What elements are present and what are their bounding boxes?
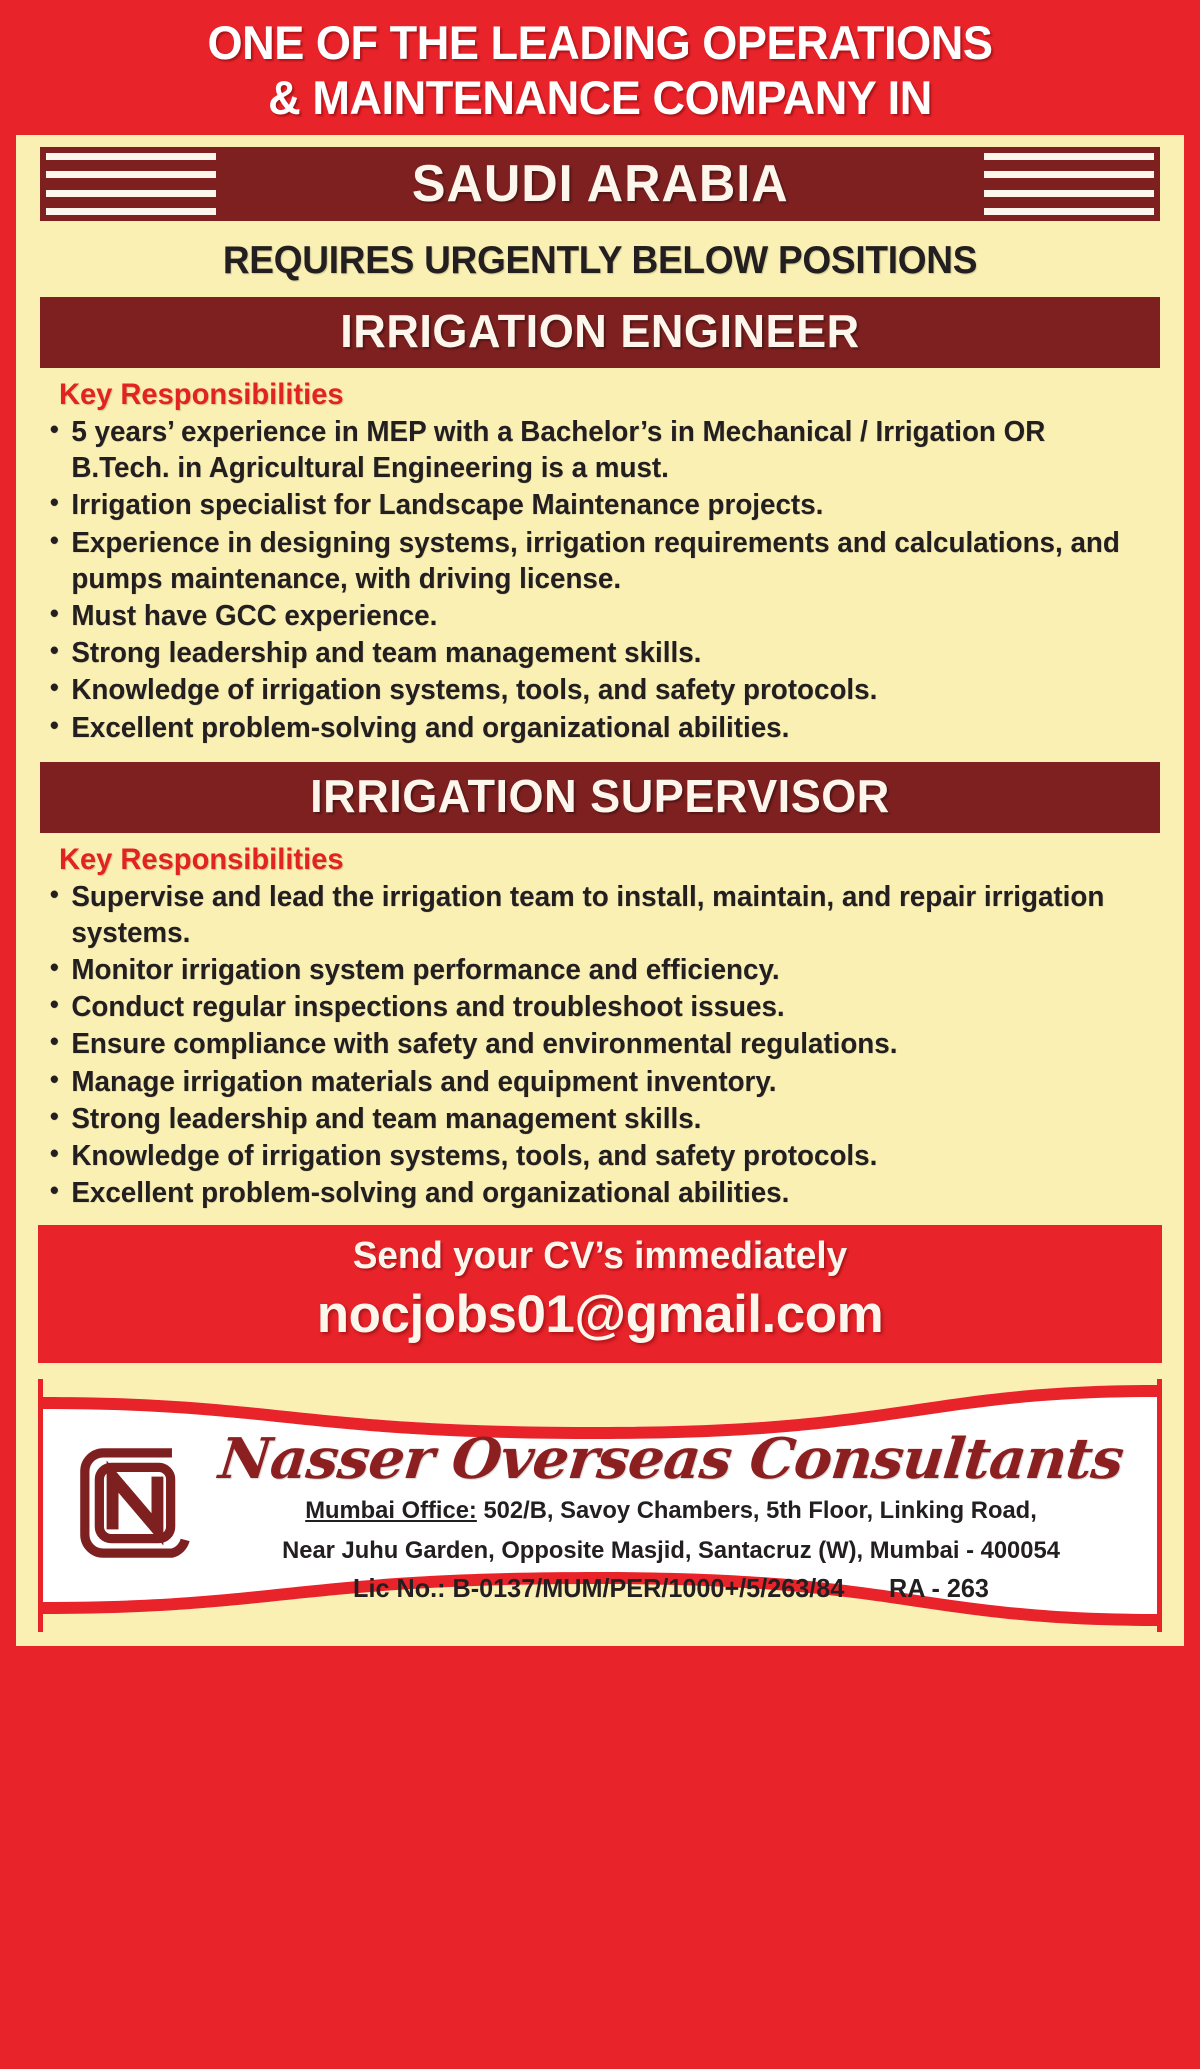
list-item: Conduct regular inspections and troubles… xyxy=(46,989,1144,1025)
address-line-1: Mumbai Office: 502/B, Savoy Chambers, 5t… xyxy=(223,1495,1119,1527)
company-logo xyxy=(61,1431,209,1569)
job-title-supervisor: IRRIGATION SUPERVISOR xyxy=(51,769,1149,823)
list-item: Supervise and lead the irrigation team t… xyxy=(46,879,1144,951)
country-banner: SAUDI ARABIA xyxy=(40,147,1160,221)
send-cv-banner: Send your CV’s immediately nocjobs01@gma… xyxy=(38,1225,1162,1363)
footer-text-block: Nasser Overseas Consultants Mumbai Offic… xyxy=(209,1431,1139,1604)
footer-content: Nasser Overseas Consultants Mumbai Offic… xyxy=(43,1379,1157,1632)
list-item: Excellent problem-solving and organizati… xyxy=(46,710,1144,746)
list-item: Knowledge of irrigation systems, tools, … xyxy=(46,1138,1144,1174)
job-title-bar-engineer: IRRIGATION ENGINEER xyxy=(40,297,1160,368)
list-item: Must have GCC experience. xyxy=(46,598,1144,634)
country-name: SAUDI ARABIA xyxy=(402,154,798,214)
address-line-2: Near Juhu Garden, Opposite Masjid, Santa… xyxy=(223,1535,1119,1567)
address-line-1-rest: 502/B, Savoy Chambers, 5th Floor, Linkin… xyxy=(477,1497,1037,1524)
key-responsibilities-heading-supervisor: Key Responsibilities xyxy=(59,843,1155,877)
list-item: Irrigation specialist for Landscape Main… xyxy=(46,487,1144,523)
list-item: Experience in designing systems, irrigat… xyxy=(46,525,1144,597)
list-item: Manage irrigation materials and equipmen… xyxy=(46,1064,1144,1100)
license-row: Lic No.: B-0137/MUM/PER/1000+/5/263/84RA… xyxy=(223,1573,1119,1604)
company-name: Nasser Overseas Consultants xyxy=(197,1431,1145,1487)
job-title-bar-supervisor: IRRIGATION SUPERVISOR xyxy=(40,762,1160,833)
list-item: Monitor irrigation system performance an… xyxy=(46,952,1144,988)
stripes-right-decoration xyxy=(984,153,1154,215)
list-item: Ensure compliance with safety and enviro… xyxy=(46,1026,1144,1062)
address-label: Mumbai Office: xyxy=(305,1497,477,1524)
list-item: Knowledge of irrigation systems, tools, … xyxy=(46,672,1144,708)
headline-banner: ONE OF THE LEADING OPERATIONS & MAINTENA… xyxy=(16,10,1184,135)
list-item: 5 years’ experience in MEP with a Bachel… xyxy=(46,414,1144,486)
list-item: Strong leadership and team management sk… xyxy=(46,635,1144,671)
responsibilities-list-engineer: 5 years’ experience in MEP with a Bachel… xyxy=(46,414,1172,746)
footer-card-wrapper: Nasser Overseas Consultants Mumbai Offic… xyxy=(38,1379,1162,1632)
job-advertisement: ONE OF THE LEADING OPERATIONS & MAINTENA… xyxy=(0,0,1200,2069)
headline-line-1: ONE OF THE LEADING OPERATIONS xyxy=(39,16,1160,71)
headline-line-2: & MAINTENANCE COMPANY IN xyxy=(39,71,1160,126)
license-number: Lic No.: B-0137/MUM/PER/1000+/5/263/84 xyxy=(353,1573,844,1603)
stripes-left-decoration xyxy=(46,153,216,215)
contact-email[interactable]: nocjobs01@gmail.com xyxy=(38,1284,1162,1345)
key-responsibilities-heading-engineer: Key Responsibilities xyxy=(59,378,1155,412)
list-item: Strong leadership and team management sk… xyxy=(46,1101,1144,1137)
content-panel: SAUDI ARABIA REQUIRES URGENTLY BELOW POS… xyxy=(16,135,1184,1646)
job-title-engineer: IRRIGATION ENGINEER xyxy=(51,304,1149,358)
footer-card: Nasser Overseas Consultants Mumbai Offic… xyxy=(38,1379,1162,1632)
list-item: Excellent problem-solving and organizati… xyxy=(46,1175,1144,1211)
ra-number: RA - 263 xyxy=(889,1573,989,1603)
nasser-n-logo-icon xyxy=(69,1437,201,1569)
responsibilities-list-supervisor: Supervise and lead the irrigation team t… xyxy=(46,879,1172,1212)
requires-line: REQUIRES URGENTLY BELOW POSITIONS xyxy=(57,239,1144,283)
send-cv-instruction: Send your CV’s immediately xyxy=(55,1235,1145,1278)
